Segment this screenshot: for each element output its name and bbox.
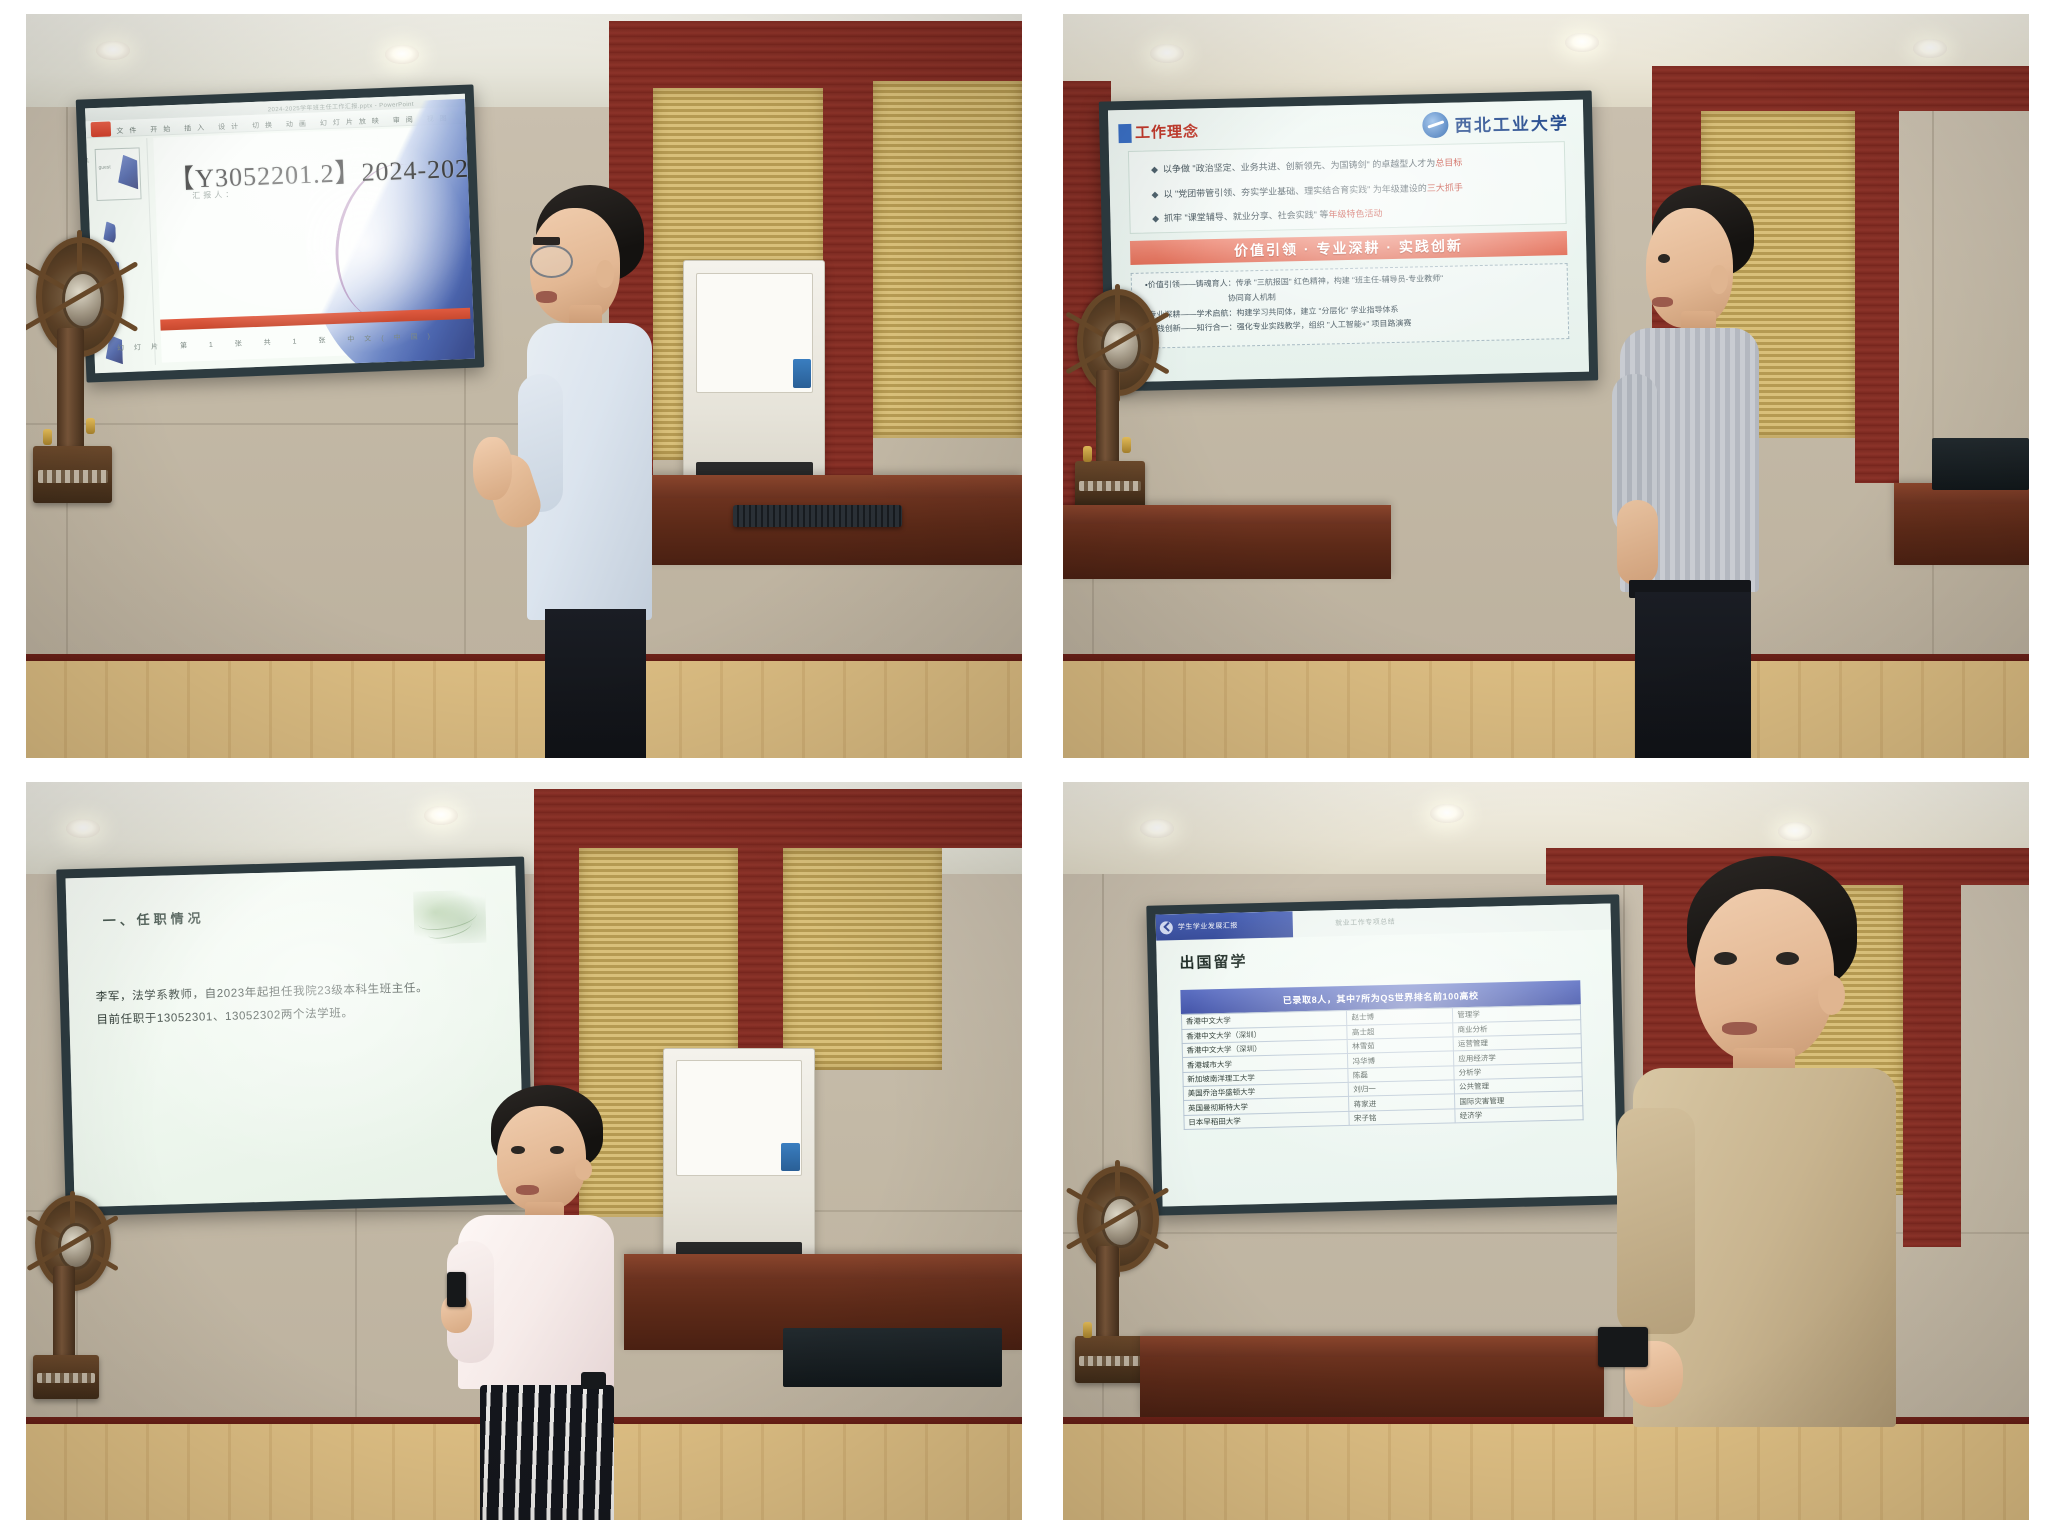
slide-tab-inactive[interactable]: 就业工作专项总结 <box>1301 908 1429 937</box>
slide-tab-active-label: 学生学业发展汇报 <box>1178 921 1238 932</box>
presenter-person <box>1594 856 1980 1520</box>
collage-cell-top-right: 工作理念 西北工业大学 ◆以争做 "政治坚定、业务共进、创新领先、为国铸剑" 的… <box>1044 0 2048 772</box>
slide-decorative-leaf <box>412 890 485 945</box>
ornament-knob <box>43 429 52 445</box>
desk-surface <box>1063 505 1391 524</box>
ceiling-downlight <box>1778 822 1812 841</box>
wall-seam <box>1932 107 1934 665</box>
slide-subtitle-text: 汇报人： <box>192 189 236 202</box>
slide-banner-text: 价值引领 · 专业深耕 · 实践创新 <box>1233 235 1462 260</box>
head <box>1695 889 1834 1062</box>
powerpoint-file-menu-button[interactable] <box>90 122 111 137</box>
mouth <box>1722 1022 1757 1035</box>
sleeve <box>1617 1108 1694 1334</box>
ceiling-downlight <box>96 41 130 60</box>
slide-heading-text: 一、任职情况 <box>102 908 205 930</box>
ear <box>1818 975 1845 1015</box>
mouth <box>1652 297 1672 307</box>
university-logo: 西北工业大学 <box>1422 109 1569 137</box>
slide-editing-canvas[interactable]: 【Y3052201.2】2024-2025学年班 汇报人： <box>153 126 471 363</box>
slide-dashed-box: •价值引领——铸魂育人：传承 "三航报国" 红色精神，构建 "班主任-辅导员-专… <box>1130 263 1568 348</box>
photo-top-right: 工作理念 西北工业大学 ◆以争做 "政治坚定、业务共进、创新领先、为国铸剑" 的… <box>1063 14 2029 758</box>
slide-study-abroad: 学生学业发展汇报 就业工作专项总结 出国留学 已录取8人，其中7所为QS世界排名… <box>1155 904 1617 1207</box>
lectern-desk <box>1140 1336 1604 1417</box>
ship-wheel-ornament <box>31 1195 131 1416</box>
eye <box>511 1146 525 1155</box>
ship-wheel-ornament <box>1073 289 1179 527</box>
slide-bullet-item: ◆以 "党团带管引领、夯实学业基础、理实结合育实践" 为年级建设的三大抓手 <box>1151 178 1551 200</box>
ceiling-downlight <box>66 819 100 838</box>
ornament-knob <box>1083 446 1092 462</box>
cell-major: 经济学 <box>1455 1106 1584 1124</box>
ship-wheel-hub <box>62 271 105 329</box>
side-desk <box>1894 483 2029 565</box>
monitor <box>1932 438 2029 490</box>
presenter-person <box>424 1085 703 1520</box>
slide-accent-square <box>1118 123 1131 142</box>
ship-wheel-ornament <box>31 237 151 520</box>
university-emblem-icon <box>1422 111 1449 138</box>
cell-university: 日本早稻田大学 <box>1184 1111 1350 1129</box>
head <box>497 1106 586 1210</box>
room-scene: 2024-2025学年班主任工作汇报.pptx - PowerPoint 文件 … <box>26 14 1022 758</box>
slide-bullet-item: ◆抓牢 "课堂辅导、就业分享、社会实践" 等年级特色活动 <box>1152 202 1552 224</box>
thumbnail-number: 1 <box>86 158 90 164</box>
ornament-knob <box>1122 437 1131 453</box>
study-abroad-table: 已录取8人，其中7所为QS世界排名前100高校 香港中文大学 赵士博 管理学 <box>1180 980 1585 1177</box>
slide-body-text: 李军，法学系教师，自2023年起担任我院23级本科生班主任。 目前任职于1305… <box>95 975 483 1033</box>
ornament-base <box>1075 461 1145 509</box>
ear <box>596 260 614 289</box>
ac-energy-label <box>793 359 811 388</box>
striped-skirt <box>480 1385 614 1520</box>
wood-louver-panel <box>873 81 1022 438</box>
projection-screen: 工作理念 西北工业大学 ◆以争做 "政治坚定、业务共进、创新领先、为国铸剑" 的… <box>1108 99 1589 382</box>
ceiling-downlight <box>1140 819 1174 838</box>
ship-wheel-hub <box>1101 1196 1141 1247</box>
slide-tab-inactive-label: 就业工作专项总结 <box>1335 917 1395 928</box>
eye <box>550 1146 564 1155</box>
desk-surface <box>1140 1336 1604 1357</box>
cell-name: 宋子铭 <box>1349 1109 1455 1126</box>
ornament-stand <box>53 1266 75 1368</box>
slide-bullet-item: ◆以争做 "政治坚定、业务共进、创新领先、为国铸剑" 的卓越型人才为总目标 <box>1151 153 1551 175</box>
slide-tab-bar: 学生学业发展汇报 就业工作专项总结 <box>1155 904 1611 941</box>
projection-screen-frame: 学生学业发展汇报 就业工作专项总结 出国留学 已录取8人，其中7所为QS世界排名… <box>1146 894 1627 1215</box>
lectern-desk <box>1063 505 1391 579</box>
slide-tab-active[interactable]: 学生学业发展汇报 <box>1155 911 1292 941</box>
mouth <box>536 291 557 302</box>
ceiling-downlight <box>424 806 458 825</box>
eyebrow <box>533 237 560 246</box>
eyeglasses <box>530 245 573 278</box>
ceiling-downlight <box>385 45 419 64</box>
collage-cell-bottom-left: 一、任职情况 李军，法学系教师，自2023年起担任我院23级本科生班主任。 目前… <box>0 772 1044 1535</box>
ornament-stand <box>1096 1246 1119 1350</box>
trousers <box>1635 592 1751 758</box>
red-wood-column <box>1855 66 1898 483</box>
mouth <box>516 1185 538 1195</box>
ornament-base <box>1075 1336 1145 1383</box>
forearm <box>1617 500 1658 586</box>
red-wood-beam <box>1652 66 2029 111</box>
thumbnail-artwork <box>117 154 138 190</box>
wristwatch <box>581 1372 606 1389</box>
slide-red-banner: 价值引领 · 专业深耕 · 实践创新 <box>1130 231 1567 265</box>
slide-title-text: 工作理念 <box>1134 120 1198 142</box>
photo-bottom-left: 一、任职情况 李军，法学系教师，自2023年起担任我院23级本科生班主任。 目前… <box>26 782 1022 1520</box>
gesturing-hand <box>473 437 512 500</box>
collage-cell-bottom-right: 学生学业发展汇报 就业工作专项总结 出国留学 已录取8人，其中7所为QS世界排名… <box>1044 772 2048 1535</box>
ornament-base <box>33 1355 99 1399</box>
room-scene: 工作理念 西北工业大学 ◆以争做 "政治坚定、业务共进、创新领先、为国铸剑" 的… <box>1063 14 2029 758</box>
photo-collage: 2024-2025学年班主任工作汇报.pptx - PowerPoint 文件 … <box>0 0 2048 1535</box>
monitor <box>783 1328 1002 1387</box>
ship-wheel-hub <box>1101 320 1141 372</box>
photo-top-left: 2024-2025学年班主任工作汇报.pptx - PowerPoint 文件 … <box>26 14 1022 758</box>
thumbnail-label: guest <box>98 164 110 170</box>
room-scene: 一、任职情况 李军，法学系教师，自2023年起担任我院23级本科生班主任。 目前… <box>26 782 1022 1520</box>
ear <box>575 1159 592 1181</box>
table-header-text: 已录取8人，其中7所为QS世界排名前100高校 <box>1283 988 1479 1006</box>
trousers <box>545 609 647 758</box>
ship-wheel-hub <box>58 1223 95 1269</box>
ornament-stand <box>57 328 83 464</box>
ornament-stand <box>1096 370 1119 475</box>
ear <box>1710 265 1727 294</box>
ac-energy-label <box>781 1143 800 1171</box>
admissions-table: 香港中文大学 赵士博 管理学 香港中文大学（深圳） 高士超 商业分析 <box>1181 1004 1584 1130</box>
presenter-person <box>464 185 763 758</box>
slide-thumbnail[interactable]: guest <box>94 147 141 201</box>
photo-bottom-right: 学生学业发展汇报 就业工作专项总结 出国留学 已录取8人，其中7所为QS世界排名… <box>1063 782 2029 1520</box>
back-arrow-icon[interactable] <box>1160 921 1173 934</box>
presentation-clicker[interactable] <box>1598 1327 1648 1367</box>
collage-cell-top-left: 2024-2025学年班主任工作汇报.pptx - PowerPoint 文件 … <box>0 0 1044 772</box>
university-name: 西北工业大学 <box>1454 109 1569 137</box>
projection-screen: 学生学业发展汇报 就业工作专项总结 出国留学 已录取8人，其中7所为QS世界排名… <box>1155 904 1617 1207</box>
wood-louver-panel <box>783 848 942 1069</box>
room-scene: 学生学业发展汇报 就业工作专项总结 出国留学 已录取8人，其中7所为QS世界排名… <box>1063 782 2029 1520</box>
floor <box>1063 661 2029 758</box>
presenter-person <box>1565 185 1855 758</box>
slide-heading-text: 出国留学 <box>1179 950 1248 973</box>
slide-work-philosophy: 工作理念 西北工业大学 ◆以争做 "政治坚定、业务共进、创新领先、为国铸剑" 的… <box>1108 99 1589 382</box>
ornament-knob <box>86 418 95 434</box>
slide-bullet-box: ◆以争做 "政治坚定、业务共进、创新领先、为国铸剑" 的卓越型人才为总目标 ◆以… <box>1128 141 1566 235</box>
ornament-knob <box>1083 1322 1092 1338</box>
red-wood-column <box>823 21 873 482</box>
eye <box>1658 254 1670 263</box>
ceiling-downlight <box>1150 44 1184 63</box>
presentation-clicker[interactable] <box>447 1272 467 1307</box>
ornament-base <box>33 446 112 503</box>
